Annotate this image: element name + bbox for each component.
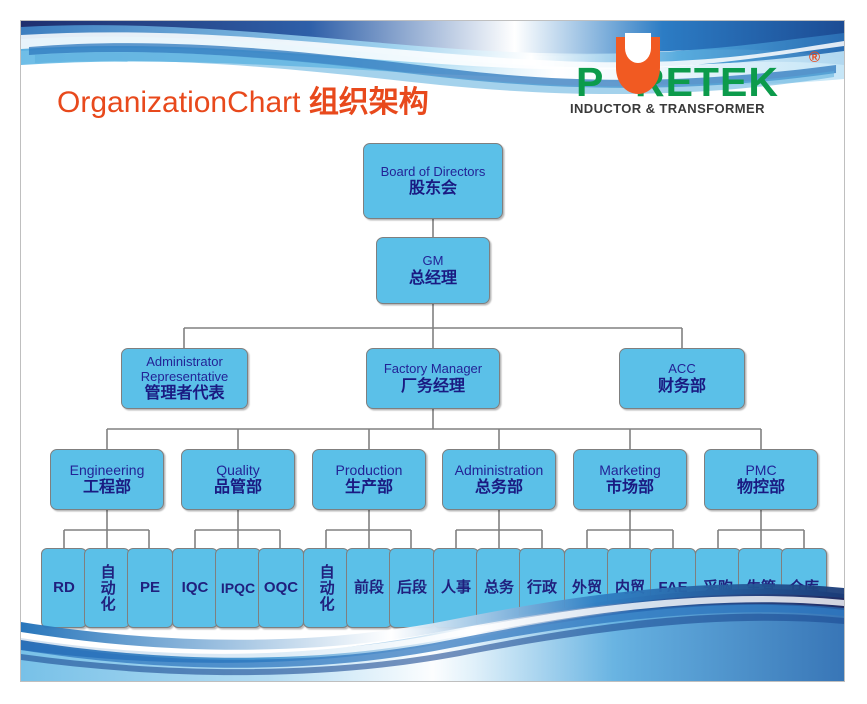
node-gm[interactable]: GM 总经理	[376, 237, 490, 304]
node-label-en: Marketing	[599, 463, 660, 479]
node-administrative[interactable]: 行政	[519, 548, 565, 628]
node-oqc[interactable]: OQC	[258, 548, 304, 628]
node-engineering[interactable]: Engineering 工程部	[50, 449, 164, 510]
node-pmc[interactable]: PMC 物控部	[704, 449, 818, 510]
node-label-cn: 总务部	[475, 478, 523, 496]
node-factory-manager[interactable]: Factory Manager 厂务经理	[366, 348, 500, 409]
slide-canvas: OrganizationChart 组织架构 PURETEK ® INDUCTO…	[20, 20, 845, 682]
node-administration[interactable]: Administration 总务部	[442, 449, 556, 510]
node-label-cn: 工程部	[83, 478, 131, 496]
node-administrator-representative[interactable]: Administrator Representative 管理者代表	[121, 348, 248, 409]
node-label-en: GM	[423, 254, 444, 269]
node-label-cn: 管理者代表	[144, 384, 224, 402]
node-production-planning[interactable]: 生管	[738, 548, 784, 628]
node-label-en-line2: Representative	[141, 370, 228, 385]
node-automation-engineering[interactable]: 自动化	[84, 548, 130, 628]
node-board-of-directors[interactable]: Board of Directors 股东会	[363, 143, 503, 219]
node-quality[interactable]: Quality 品管部	[181, 449, 295, 510]
node-label-cn: 品管部	[214, 478, 262, 496]
node-label-en-line1: Administrator	[146, 355, 223, 370]
node-label-en: Engineering	[70, 463, 145, 479]
node-label-cn: 物控部	[737, 478, 785, 496]
node-iqc[interactable]: IQC	[172, 548, 218, 628]
node-label-en: PMC	[745, 463, 776, 479]
node-label-en: Board of Directors	[381, 165, 486, 180]
node-label-cn: 市场部	[606, 478, 654, 496]
node-fae[interactable]: FAE	[650, 548, 696, 628]
node-label-en: Production	[336, 463, 403, 479]
node-general-affairs[interactable]: 总务	[476, 548, 522, 628]
node-human-resources[interactable]: 人事	[433, 548, 479, 628]
node-ipqc[interactable]: IPQC	[215, 548, 261, 628]
node-label-cn: 生产部	[345, 478, 393, 496]
node-export-trade[interactable]: 外贸	[564, 548, 610, 628]
org-chart: Board of Directors 股东会 GM 总经理 Administra…	[21, 21, 845, 682]
node-acc[interactable]: ACC 财务部	[619, 348, 745, 409]
node-automation-production[interactable]: 自动化	[303, 548, 349, 628]
node-label-en: ACC	[668, 362, 695, 377]
node-pe[interactable]: PE	[127, 548, 173, 628]
node-production[interactable]: Production 生产部	[312, 449, 426, 510]
node-label-en: Factory Manager	[384, 362, 482, 377]
node-warehouse[interactable]: 仓库	[781, 548, 827, 628]
node-rd[interactable]: RD	[41, 548, 87, 628]
node-domestic-trade[interactable]: 内贸	[607, 548, 653, 628]
node-marketing[interactable]: Marketing 市场部	[573, 449, 687, 510]
node-front-section[interactable]: 前段	[346, 548, 392, 628]
node-back-section[interactable]: 后段	[389, 548, 435, 628]
node-label-en: Administration	[455, 463, 544, 479]
node-label-en: Quality	[216, 463, 260, 479]
node-label-cn: 股东会	[409, 179, 457, 197]
node-label-cn: 总经理	[409, 269, 457, 287]
node-purchasing[interactable]: 采购	[695, 548, 741, 628]
node-label-cn: 财务部	[658, 377, 706, 395]
node-label-cn: 厂务经理	[401, 377, 465, 395]
